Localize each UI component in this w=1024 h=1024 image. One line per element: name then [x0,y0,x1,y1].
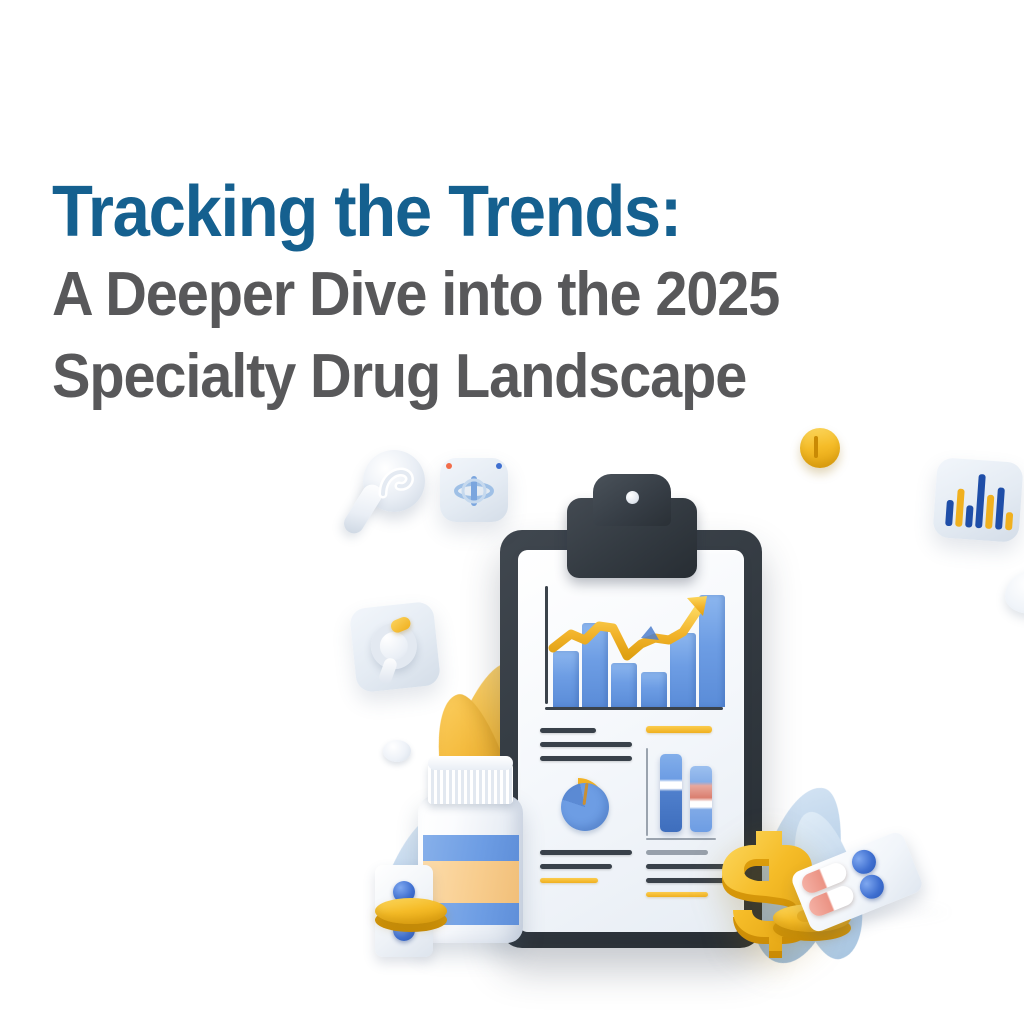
round-pill [856,871,887,902]
vbar-x-axis [646,838,716,840]
paper-text-line [540,728,596,733]
pill-bottle-cap-top [428,756,513,770]
paper-text-line [540,850,632,855]
chart-bar [611,663,637,707]
vbar-y-axis [646,748,648,836]
stethoscope-tubing-icon [373,458,423,508]
report-bar-chart [537,582,727,710]
paper-accent-line [540,878,598,883]
chart-bar [582,623,608,707]
chart-bar [699,595,725,707]
clipboard-clip-screw [626,491,639,504]
pill-blob-icon [1005,570,1024,614]
paper-vertical-bars [646,748,718,840]
poster-canvas: Tracking the Trends: A Deeper Dive into … [0,0,1024,1024]
hero-illustration [345,410,985,970]
chart-bar [553,651,579,707]
clipboard-paper [518,550,744,932]
chart-y-axis [545,586,548,704]
chart-x-axis [545,707,723,710]
loose-tablet-icon [383,740,411,762]
gold-coin [375,898,447,924]
page-subtitle-line-2: Specialty Drug Landscape [52,336,843,418]
paper-accent-line [646,892,708,897]
paper-text-line [540,742,632,747]
vbar-item [690,766,712,832]
medical-card[interactable] [440,458,508,522]
paper-text-line [646,864,726,869]
page-subtitle-line-1: A Deeper Dive into the 2025 [52,254,843,336]
magnifier-card[interactable] [349,601,441,693]
floating-gold-coin [800,428,840,468]
paper-text-line [646,850,708,855]
vbar-item [660,754,682,832]
chart-bars [553,591,725,707]
paper-text-line [540,756,632,761]
paper-text-line [540,864,612,869]
page-title: Tracking the Trends: [52,170,843,254]
bar-chart-card[interactable] [932,457,1023,543]
chart-bar [670,633,696,707]
paper-text-line [646,878,726,883]
mini-bar-chart-icon [932,457,1023,543]
paper-accent-line [646,726,712,733]
bottle-label-body [423,861,519,903]
headline-block: Tracking the Trends: A Deeper Dive into … [52,170,902,418]
coin-dollar-glyph-icon [814,436,818,458]
chart-bar [641,672,667,707]
bottle-label-stripe [423,835,519,861]
medical-symbol-icon [440,458,508,522]
round-pill [848,846,879,877]
